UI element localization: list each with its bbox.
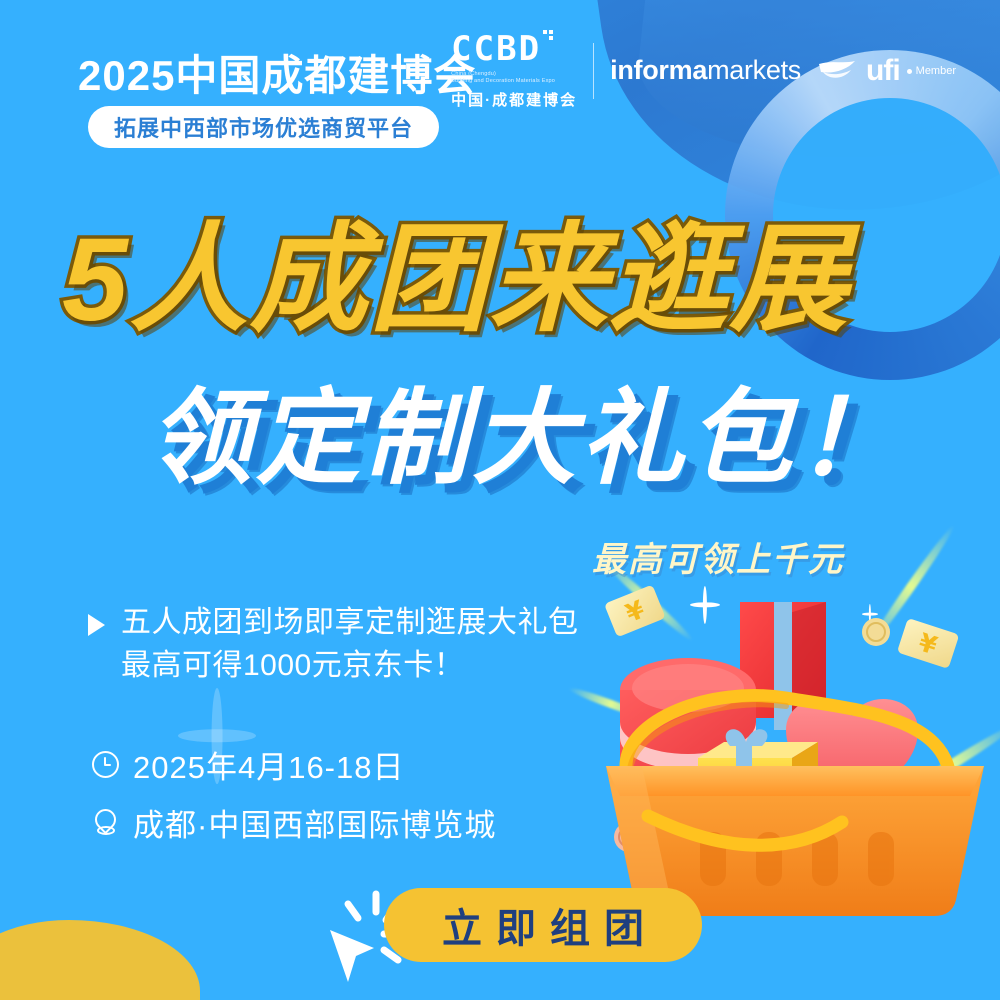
ccbd-logo: CCBD China (Chengdu)Building and Decorat…: [451, 32, 577, 110]
coupon-icon: ¥: [897, 618, 959, 669]
clock-icon: [92, 751, 119, 778]
headline-secondary: 领定制大礼包！: [148, 353, 904, 504]
ufi-logo: ufi Member: [817, 56, 956, 86]
logo-divider: [593, 43, 594, 99]
ufi-swoosh-icon: [817, 58, 859, 84]
event-location-text: 成都·中国西部国际博览城: [133, 800, 496, 845]
ufi-wordmark: ufi: [866, 56, 900, 86]
join-group-button-label: 立即组团: [428, 896, 658, 954]
promo-poster: 2025中国成都建博会 拓展中西部市场优选商贸平台 CCBD China (Ch…: [0, 0, 1000, 1000]
triangle-right-icon: [88, 614, 105, 636]
background-corner-accent: [0, 920, 200, 1000]
ccbd-wordmark-text: CCBD: [451, 29, 541, 69]
location-pin-icon: [92, 809, 119, 836]
gift-basket-illustration: ¥ ¥ ¥: [590, 570, 1000, 930]
coin-icon: [862, 618, 890, 646]
ufi-member-label: Member: [907, 65, 956, 77]
informa-bold-text: informa: [610, 55, 707, 85]
event-date-row: 2025年4月16-18日: [92, 742, 405, 787]
benefit-line-1: 五人成团到场即享定制逛展大礼包: [121, 602, 579, 645]
tagline-badge: 拓展中西部市场优选商贸平台: [88, 106, 439, 148]
page-title: 2025中国成都建博会: [78, 42, 476, 103]
ccbd-wordmark: CCBD: [451, 32, 541, 66]
benefit-text: 五人成团到场即享定制逛展大礼包 最高可得1000元京东卡！: [121, 602, 579, 687]
ccbd-chinese-name: 中国·成都建博会: [451, 89, 577, 110]
benefit-line-2: 最高可得1000元京东卡！: [121, 645, 579, 688]
logo-group: CCBD China (Chengdu)Building and Decorat…: [451, 32, 956, 110]
ccbd-dots-icon: [543, 30, 553, 44]
event-location-row: 成都·中国西部国际博览城: [92, 800, 496, 845]
event-date-text: 2025年4月16-18日: [133, 742, 405, 787]
ccbd-english-subtitle: China (Chengdu)Building and Decoration M…: [451, 71, 555, 86]
headline-primary: 5人成团来逛展: [62, 183, 850, 354]
tagline-badge-label: 拓展中西部市场优选商贸平台: [114, 111, 413, 143]
coupon-icon: ¥: [604, 585, 666, 638]
informa-markets-logo: informamarkets: [610, 55, 801, 86]
poster-header: 2025中国成都建博会 拓展中西部市场优选商贸平台 CCBD China (Ch…: [0, 0, 1000, 160]
benefit-bullet: 五人成团到场即享定制逛展大礼包 最高可得1000元京东卡！: [88, 602, 579, 687]
informa-light-text: markets: [707, 55, 801, 85]
join-group-button[interactable]: 立即组团: [384, 888, 702, 962]
